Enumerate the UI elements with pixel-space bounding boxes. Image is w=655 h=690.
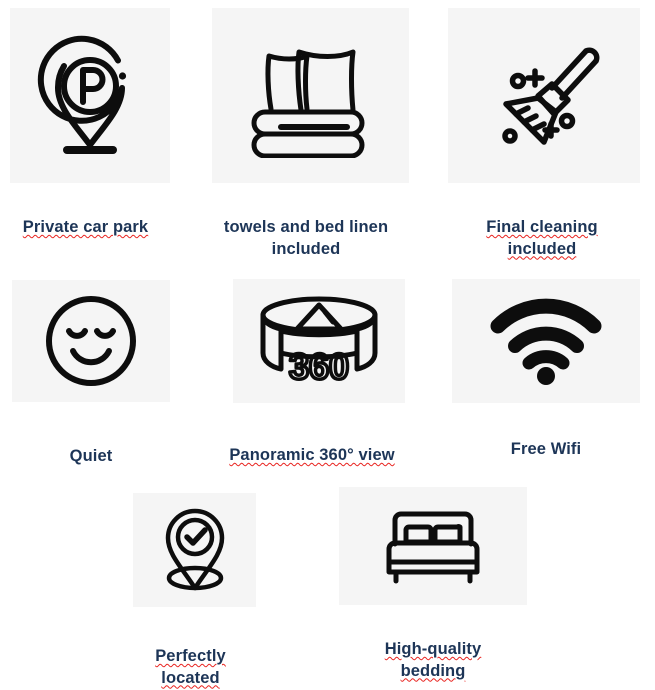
folded-linen-pillows-icon [243, 34, 379, 158]
amenity-item-parking[interactable]: Private car park [10, 8, 170, 239]
broom-sparkle-icon [474, 26, 614, 166]
amenity-label-text: Final cleaning included [486, 218, 597, 258]
amenity-label: Final cleaning included [442, 195, 642, 260]
amenity-item-bedding[interactable]: High-quality bedding [339, 487, 527, 682]
amenity-label: Panoramic 360° view [212, 423, 412, 467]
amenity-item-panorama[interactable]: 360 Panoramic 360° view [233, 279, 405, 467]
amenity-icon-tile: 360 [233, 279, 405, 403]
amenity-icon-tile [133, 493, 256, 607]
amenity-label: Quiet [12, 424, 170, 468]
amenity-item-wifi[interactable]: Free Wifi [452, 279, 640, 461]
amenity-icon-tile [10, 8, 170, 183]
amenity-icon-tile [212, 8, 409, 183]
amenity-label-text: High-quality bedding [385, 640, 482, 680]
amenity-icon-tile [339, 487, 527, 605]
amenity-label-text: Panoramic 360° view [229, 446, 394, 464]
amenity-item-quiet[interactable]: Quiet [12, 280, 170, 468]
amenities-grid: Private car park towels and bed linen in… [0, 0, 655, 690]
map-pin-parking-icon [34, 32, 146, 160]
amenity-label: Free Wifi [452, 417, 640, 461]
amenity-label-text: Private car park [23, 218, 148, 236]
panorama-360-icon: 360 [253, 291, 385, 391]
map-pin-check-icon [152, 504, 238, 596]
wifi-signal-icon [488, 296, 604, 386]
amenity-icon-tile [12, 280, 170, 402]
svg-text:360: 360 [289, 346, 349, 387]
amenity-item-linen[interactable]: towels and bed linen included [212, 8, 409, 260]
amenity-item-location[interactable]: Perfectly located [133, 493, 256, 689]
amenity-label: towels and bed linen included [199, 195, 414, 260]
amenity-icon-tile [452, 279, 640, 403]
amenity-label: High-quality bedding [339, 617, 527, 682]
double-bed-icon [381, 506, 485, 586]
amenity-label: Private car park [0, 195, 175, 239]
relaxed-smiley-face-icon [43, 293, 139, 389]
amenity-label-text: Perfectly located [155, 647, 226, 687]
amenity-icon-tile [448, 8, 640, 183]
amenity-label: Perfectly located [121, 624, 261, 689]
amenity-label-text: towels and bed linen included [224, 218, 388, 258]
amenity-label-text: Quiet [70, 447, 113, 465]
amenity-item-cleaning[interactable]: Final cleaning included [448, 8, 640, 260]
amenity-label-text: Free Wifi [511, 440, 581, 458]
